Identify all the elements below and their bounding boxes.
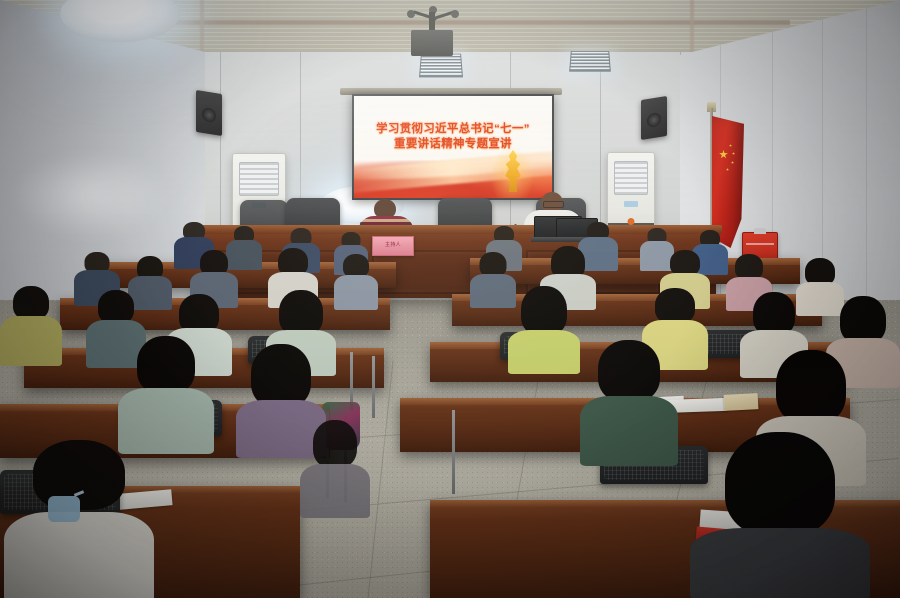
- face-mask: [48, 496, 80, 522]
- ceiling-projector: [405, 12, 461, 56]
- attendee: [118, 336, 214, 448]
- projection-screen[interactable]: 学习贯彻习近平总书记“七一” 重要讲话精神专题宣讲 台山市统计局 国家统计局台山…: [352, 94, 554, 200]
- nameplate: 主持人: [372, 236, 414, 256]
- attendee: [508, 286, 580, 370]
- wall-speaker-icon: [196, 90, 222, 136]
- attendee: [580, 340, 678, 460]
- nameplate-text: 主持人: [373, 241, 413, 248]
- fluorescent-troffer-light: [569, 51, 611, 72]
- fluorescent-troffer-light: [419, 54, 463, 78]
- wall-speaker-icon: [641, 96, 667, 140]
- presentation-slide: 学习贯彻习近平总书记“七一” 重要讲话精神专题宣讲 台山市统计局 国家统计局台山…: [354, 96, 552, 198]
- slide-title-line1: 学习贯彻习近平总书记“七一”: [376, 123, 530, 135]
- ceiling-beam: [150, 20, 790, 25]
- attendee: [300, 420, 370, 516]
- attendee-with-mask: [4, 440, 154, 598]
- meeting-room-photo: 学习贯彻习近平总书记“七一” 重要讲话精神专题宣讲 台山市统计局 国家统计局台山…: [0, 0, 900, 598]
- attendee: [690, 432, 870, 598]
- glasses-icon: [543, 201, 564, 208]
- attendee: [334, 254, 378, 308]
- notebook[interactable]: [724, 393, 759, 411]
- attendee: [0, 286, 62, 364]
